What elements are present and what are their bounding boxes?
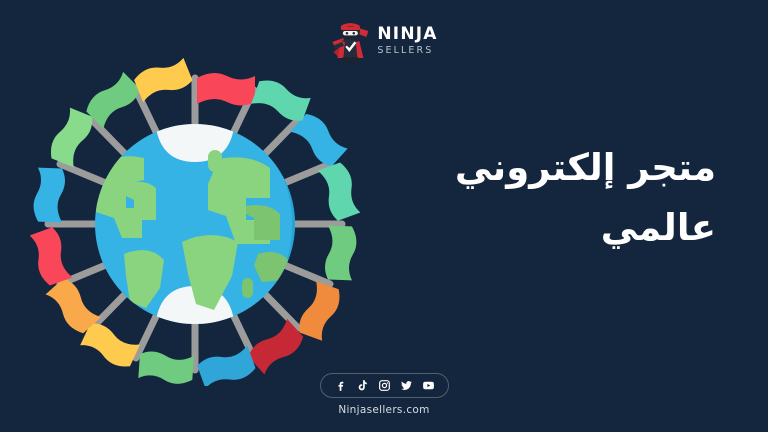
- headline: متجر إلكتروني عالمي: [386, 138, 716, 258]
- social-links: [320, 373, 449, 398]
- logo-title: NINJA: [377, 26, 437, 43]
- instagram-icon[interactable]: [378, 379, 391, 392]
- twitter-icon[interactable]: [400, 379, 413, 392]
- promo-banner: NINJA SELLERS: [0, 0, 768, 432]
- flag-red-top: [197, 73, 255, 106]
- footer: Ninjasellers.com: [0, 373, 768, 416]
- tiktok-icon[interactable]: [356, 379, 369, 392]
- headline-line-1: متجر إلكتروني: [386, 138, 716, 198]
- globe-with-flags-icon: [30, 56, 360, 386]
- globe-illustration: [30, 56, 360, 386]
- headline-line-2: عالمي: [386, 198, 716, 258]
- site-url[interactable]: Ninjasellers.com: [338, 404, 429, 416]
- youtube-icon[interactable]: [422, 379, 435, 392]
- facebook-icon[interactable]: [334, 379, 347, 392]
- logo-subtitle: SELLERS: [377, 46, 437, 56]
- logo-wordmark: NINJA SELLERS: [377, 26, 437, 56]
